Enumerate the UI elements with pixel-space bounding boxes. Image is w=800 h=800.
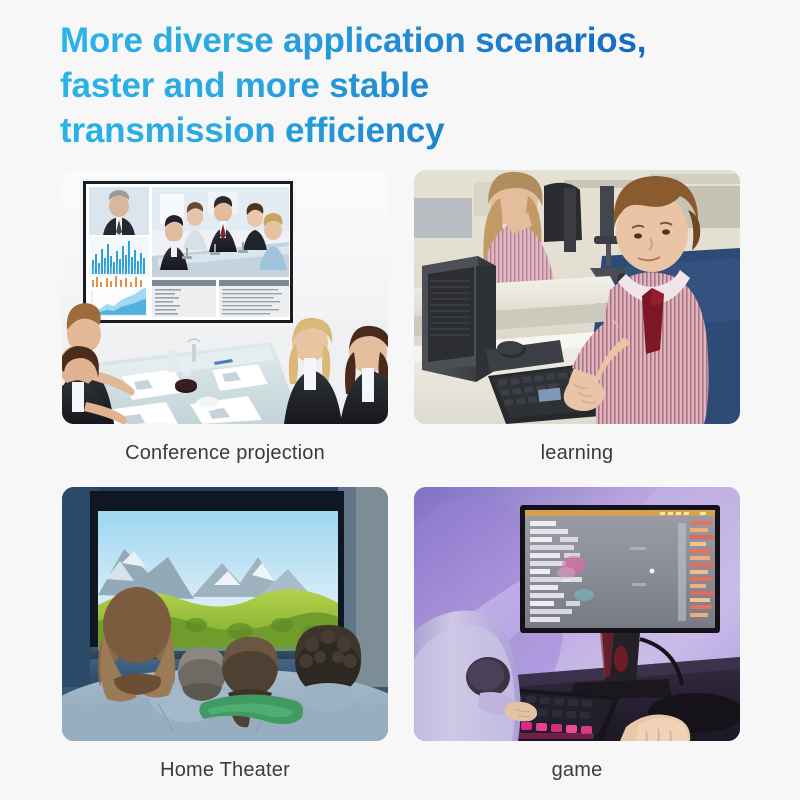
- page-title: More diverse application scenarios, fast…: [60, 18, 680, 153]
- scenario-card-learning[interactable]: learning: [414, 170, 740, 482]
- caption-conference-projection: Conference projection: [62, 424, 388, 482]
- scenario-card-home-theater[interactable]: Home Theater: [62, 482, 388, 799]
- scenario-card-conference-projection[interactable]: Conference projection: [62, 170, 388, 482]
- game-image: [414, 487, 740, 741]
- scenario-card-game[interactable]: game: [414, 482, 740, 799]
- learning-image: [414, 170, 740, 424]
- caption-learning: learning: [414, 424, 740, 482]
- conference-projection-image: [62, 170, 388, 424]
- home-theater-image: [62, 487, 388, 741]
- caption-game: game: [414, 741, 740, 799]
- caption-home-theater: Home Theater: [62, 741, 388, 799]
- scenario-grid: Conference projection: [62, 170, 740, 799]
